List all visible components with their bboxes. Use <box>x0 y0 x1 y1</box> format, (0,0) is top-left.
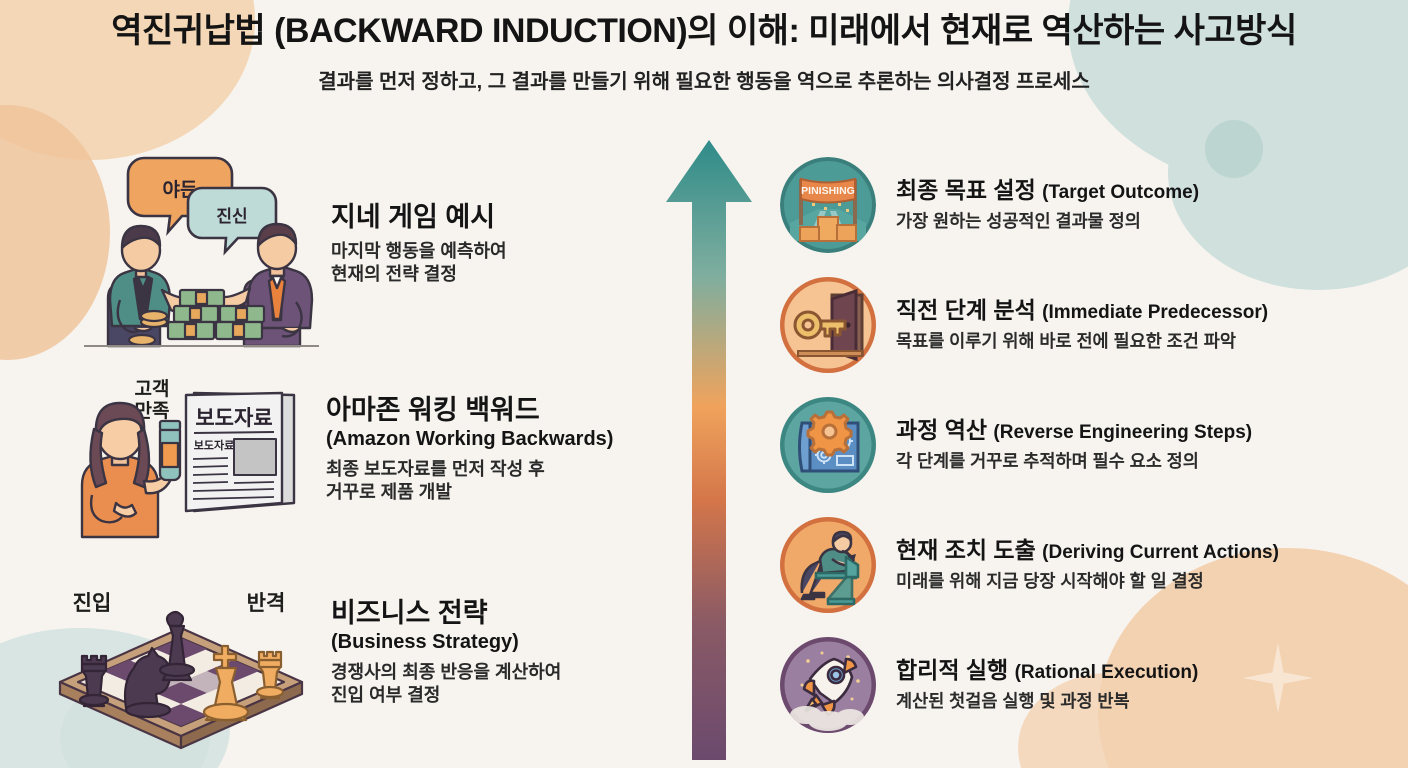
example-subtitle: (Business Strategy) <box>331 630 561 654</box>
step-title: 합리적 실행 (Rational Execution) <box>896 657 1198 684</box>
step-item-immediate-predecessor: 직전 단계 분석 (Immediate Predecessor) 목표를 이루기… <box>780 265 1408 385</box>
example-text-block: 비즈니스 전략 (Business Strategy) 경쟁사의 최종 반응을 … <box>331 598 561 708</box>
step-text-block: 합리적 실행 (Rational Execution) 계산된 첫걸음 실행 및… <box>896 657 1198 713</box>
center-arrow <box>666 140 752 760</box>
step-item-deriving-current-actions: 현재 조치 도출 (Deriving Current Actions) 미래를 … <box>780 505 1408 625</box>
step-title-ko: 최종 목표 설정 <box>896 177 1036 203</box>
speech-bubble-right-text: 진신 <box>216 207 247 226</box>
step-badge <box>780 277 876 373</box>
example-subtitle: (Amazon Working Backwards) <box>326 427 613 451</box>
step-item-reverse-engineering: 과정 역산 (Reverse Engineering Steps) 각 단계를 … <box>780 385 1408 505</box>
upward-arrow-icon <box>666 140 752 760</box>
step-text-block: 직전 단계 분석 (Immediate Predecessor) 목표를 이루기… <box>896 297 1268 353</box>
step-title-ko: 직전 단계 분석 <box>896 297 1036 323</box>
key-and-open-door-icon <box>780 277 876 373</box>
step-description: 계산된 첫걸음 실행 및 과정 반복 <box>896 688 1198 713</box>
example-title: 아마존 워킹 백워드 <box>326 395 613 426</box>
infographic-canvas: 역진귀납법 (BACKWARD INDUCTION)의 이해: 미래에서 현재로… <box>0 0 1408 768</box>
two-businessmen-negotiation-illustration: 야든 진신 <box>84 150 319 350</box>
customer-satisfaction-label-line1: 고객 <box>135 378 170 400</box>
step-description: 가장 원하는 성공적인 결과물 정의 <box>896 208 1199 233</box>
example-text-block: 아마존 워킹 백워드 (Amazon Working Backwards) 최종… <box>326 395 613 505</box>
page-title: 역진귀납법 (BACKWARD INDUCTION)의 이해: 미래에서 현재로… <box>0 12 1408 51</box>
product-bottle-icon <box>160 421 180 480</box>
step-title-en: (Immediate Predecessor) <box>1042 302 1268 323</box>
newspaper-headline: 보도자료 <box>195 407 272 430</box>
newspaper-icon: 보도자료 보도자료 <box>186 393 294 511</box>
step-text-block: 현재 조치 도출 (Deriving Current Actions) 미래를 … <box>896 537 1279 593</box>
step-title-en: (Target Outcome) <box>1042 182 1199 203</box>
step-title: 현재 조치 도출 (Deriving Current Actions) <box>896 537 1279 564</box>
step-title: 직전 단계 분석 (Immediate Predecessor) <box>896 297 1268 324</box>
step-badge: PINISHING <box>780 157 876 253</box>
step-description: 미래를 위해 지금 당장 시작해야 할 일 결정 <box>896 568 1279 593</box>
example-item-amazon-working-backwards: 고객 만족 보도자료 보도자료 <box>74 365 613 540</box>
step-item-rational-execution: 합리적 실행 (Rational Execution) 계산된 첫걸음 실행 및… <box>780 625 1408 745</box>
chess-label-right: 반격 <box>247 592 286 615</box>
finish-line-podium-icon: PINISHING <box>780 157 876 253</box>
example-description: 경쟁사의 최종 반응을 계산하여 진입 여부 결정 <box>331 661 561 708</box>
person-at-desk-working-icon <box>780 517 876 613</box>
step-title-en: (Reverse Engineering Steps) <box>993 422 1252 443</box>
example-title: 지네 게임 예시 <box>331 202 507 233</box>
example-description: 마지막 행동을 예측하여 현재의 전략 결정 <box>331 240 507 287</box>
step-text-block: 과정 역산 (Reverse Engineering Steps) 각 단계를 … <box>896 417 1252 473</box>
step-badge <box>780 637 876 733</box>
blueprint-gears-icon <box>780 397 876 493</box>
header: 역진귀납법 (BACKWARD INDUCTION)의 이해: 미래에서 현재로… <box>0 0 1408 94</box>
page-subtitle: 결과를 먼저 정하고, 그 결과를 만들기 위해 필요한 행동을 역으로 추론하… <box>0 65 1408 94</box>
step-title-en: (Rational Execution) <box>1015 662 1199 683</box>
chess-label-left: 진입 <box>73 592 112 615</box>
example-description: 최종 보도자료를 먼저 작성 후 거꾸로 제품 개발 <box>326 458 613 505</box>
step-description: 각 단계를 거꾸로 추적하며 필수 요소 정의 <box>896 448 1252 473</box>
step-title: 과정 역산 (Reverse Engineering Steps) <box>896 417 1252 444</box>
step-item-target-outcome: PINISHING 최종 목표 설정 (Target Outcome) 가장 원… <box>780 145 1408 265</box>
step-title: 최종 목표 설정 (Target Outcome) <box>896 177 1199 204</box>
step-description: 목표를 이루기 위해 바로 전에 필요한 조건 파악 <box>896 328 1268 353</box>
example-item-business-strategy: 진입 반격 <box>44 570 561 755</box>
step-badge <box>780 517 876 613</box>
finish-banner-text: PINISHING <box>801 185 855 197</box>
left-examples-column: 야든 진신 <box>24 140 664 760</box>
step-title-ko: 과정 역산 <box>896 417 987 443</box>
example-text-block: 지네 게임 예시 마지막 행동을 예측하여 현재의 전략 결정 <box>331 202 507 287</box>
example-title: 비즈니스 전략 <box>331 598 561 629</box>
step-title-en: (Deriving Current Actions) <box>1042 542 1279 563</box>
woman-press-release-illustration: 고객 만족 보도자료 보도자료 <box>74 365 314 540</box>
step-text-block: 최종 목표 설정 (Target Outcome) 가장 원하는 성공적인 결과… <box>896 177 1199 233</box>
example-item-centipede-game: 야든 진신 <box>84 150 507 350</box>
right-steps-column: PINISHING 최종 목표 설정 (Target Outcome) 가장 원… <box>780 145 1408 745</box>
newspaper-subheadline: 보도자료 <box>194 438 234 452</box>
step-title-ko: 합리적 실행 <box>896 657 1008 683</box>
rocket-launch-icon <box>780 637 876 733</box>
step-title-ko: 현재 조치 도출 <box>896 537 1036 563</box>
isometric-chessboard-illustration: 진입 반격 <box>44 570 319 755</box>
step-badge <box>780 397 876 493</box>
